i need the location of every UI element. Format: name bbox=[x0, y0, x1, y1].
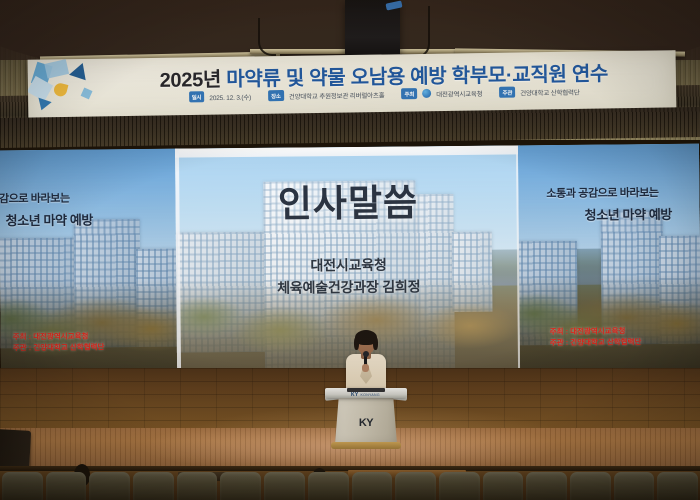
seat bbox=[220, 472, 261, 500]
banner-chip-organizer: 주관 bbox=[499, 87, 515, 98]
right-projection-panel: 소통과 공감으로 바라보는 청소년 마약 예방 주최 : 대전광역시교육청 주관… bbox=[518, 144, 700, 371]
seat bbox=[308, 472, 349, 500]
left-slide-line1: 소통과 공감으로 바라보는 bbox=[0, 190, 70, 207]
banner-value-host: 대전광역시교육청 bbox=[436, 88, 482, 99]
seat bbox=[352, 472, 393, 500]
seat bbox=[46, 472, 87, 500]
seat bbox=[395, 472, 436, 500]
center-slide-title: 인사말씀 bbox=[175, 171, 521, 228]
left-slide-credits: 주최 : 대전광역시교육청 주관 : 건양대학교 산학협력단 bbox=[13, 331, 105, 354]
seat bbox=[177, 472, 218, 500]
right-credit-organizer: 주관 : 건양대학교 산학협력단 bbox=[550, 337, 642, 349]
banner-decoration-graphic bbox=[28, 59, 103, 123]
seat-row bbox=[0, 472, 700, 500]
seat bbox=[2, 472, 43, 500]
auditorium-scene: 2025년 마약류 및 약물 오남용 예방 학부모·교직원 연수 일시 2025… bbox=[0, 0, 700, 500]
lectern-top-logo-word: KONYANG bbox=[361, 393, 380, 397]
presenter-hair-side bbox=[373, 337, 378, 350]
seat bbox=[614, 472, 655, 500]
seat bbox=[439, 472, 480, 500]
banner-value-organizer: 건양대학교 산학협력단 bbox=[520, 86, 580, 97]
seat bbox=[483, 472, 524, 500]
center-slide-organization: 대전시교육청 bbox=[176, 253, 521, 276]
lectern-top-logo-mark: KY bbox=[351, 392, 359, 398]
education-office-emblem-icon bbox=[422, 89, 431, 98]
seat bbox=[89, 472, 130, 500]
lectern: KY KY KONYANG bbox=[325, 388, 407, 450]
lectern-base bbox=[331, 442, 401, 449]
right-credit-host: 주최 : 대전광역시교육청 bbox=[550, 326, 642, 338]
banner-chip-host: 주최 bbox=[401, 88, 417, 99]
banner-value-place: 건양대학교 추원정보관 리버럴아츠홀 bbox=[289, 89, 385, 100]
lectern-body: KY bbox=[335, 397, 397, 444]
lectern-top-logo: KY KONYANG bbox=[351, 392, 381, 398]
seat bbox=[133, 472, 174, 500]
seat bbox=[570, 472, 611, 500]
banner-value-date: 2025. 12. 3.(수) bbox=[209, 91, 251, 102]
hanging-cable bbox=[404, 6, 430, 58]
seat bbox=[264, 472, 305, 500]
hanging-cable bbox=[258, 18, 276, 56]
presenter-hair-side bbox=[354, 337, 359, 350]
banner-title-year: 2025년 bbox=[159, 69, 221, 92]
banner-chip-date: 일시 bbox=[189, 91, 205, 102]
right-slide-line2: 청소년 마약 예방 bbox=[584, 204, 672, 224]
left-credit-organizer: 주관 : 건양대학교 산학협력단 bbox=[13, 342, 105, 354]
left-credit-host: 주최 : 대전광역시교육청 bbox=[13, 331, 105, 343]
presenter-hand bbox=[362, 364, 369, 372]
left-slide-line2: 청소년 마약 예방 bbox=[6, 209, 94, 229]
right-slide-credits: 주최 : 대전광역시교육청 주관 : 건양대학교 산학협력단 bbox=[550, 326, 642, 349]
left-projection-panel: 소통과 공감으로 바라보는 청소년 마약 예방 주최 : 대전광역시교육청 주관… bbox=[0, 149, 179, 376]
center-slide-person: 체육예술건강과장 김희정 bbox=[176, 275, 521, 298]
lectern-logo: KY bbox=[335, 417, 397, 429]
right-slide-line1: 소통과 공감으로 바라보는 bbox=[546, 184, 658, 201]
seat bbox=[526, 472, 567, 500]
microphone-head-icon bbox=[363, 351, 369, 357]
seat bbox=[657, 472, 698, 500]
banner-chip-place: 장소 bbox=[268, 90, 284, 101]
